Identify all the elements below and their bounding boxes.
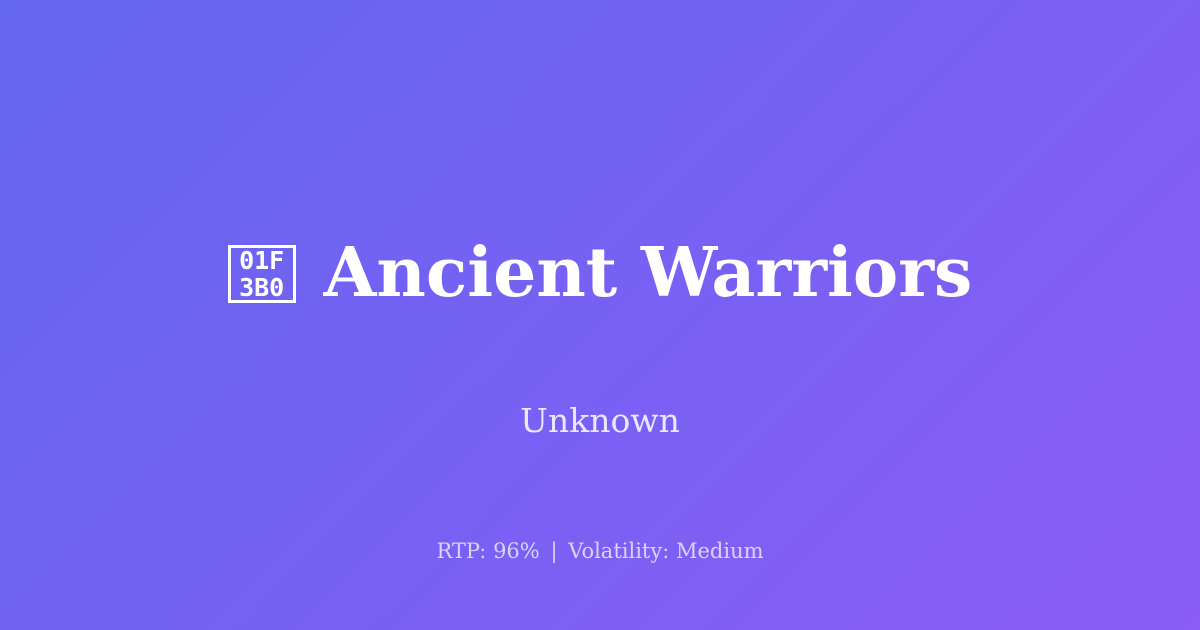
game-meta: RTP: 96% | Volatility: Medium bbox=[0, 541, 1200, 562]
meta-separator: | bbox=[546, 539, 561, 563]
page-subtitle: Unknown bbox=[520, 404, 680, 437]
tofu-codepoint-bottom: 3B0 bbox=[239, 274, 284, 301]
page-title: Ancient Warriors bbox=[324, 239, 973, 307]
og-card: 01F 3B0 Ancient Warriors Unknown RTP: 96… bbox=[0, 0, 1200, 630]
rtp-label: RTP: bbox=[436, 539, 486, 563]
tofu-codepoint-top: 01F bbox=[239, 247, 284, 274]
volatility-value: Medium bbox=[676, 539, 764, 563]
slot-machine-emoji-icon: 01F 3B0 bbox=[228, 245, 296, 303]
rtp-value: 96% bbox=[493, 539, 540, 563]
volatility-label: Volatility: bbox=[568, 539, 669, 563]
title-row: 01F 3B0 Ancient Warriors bbox=[0, 193, 1200, 352]
